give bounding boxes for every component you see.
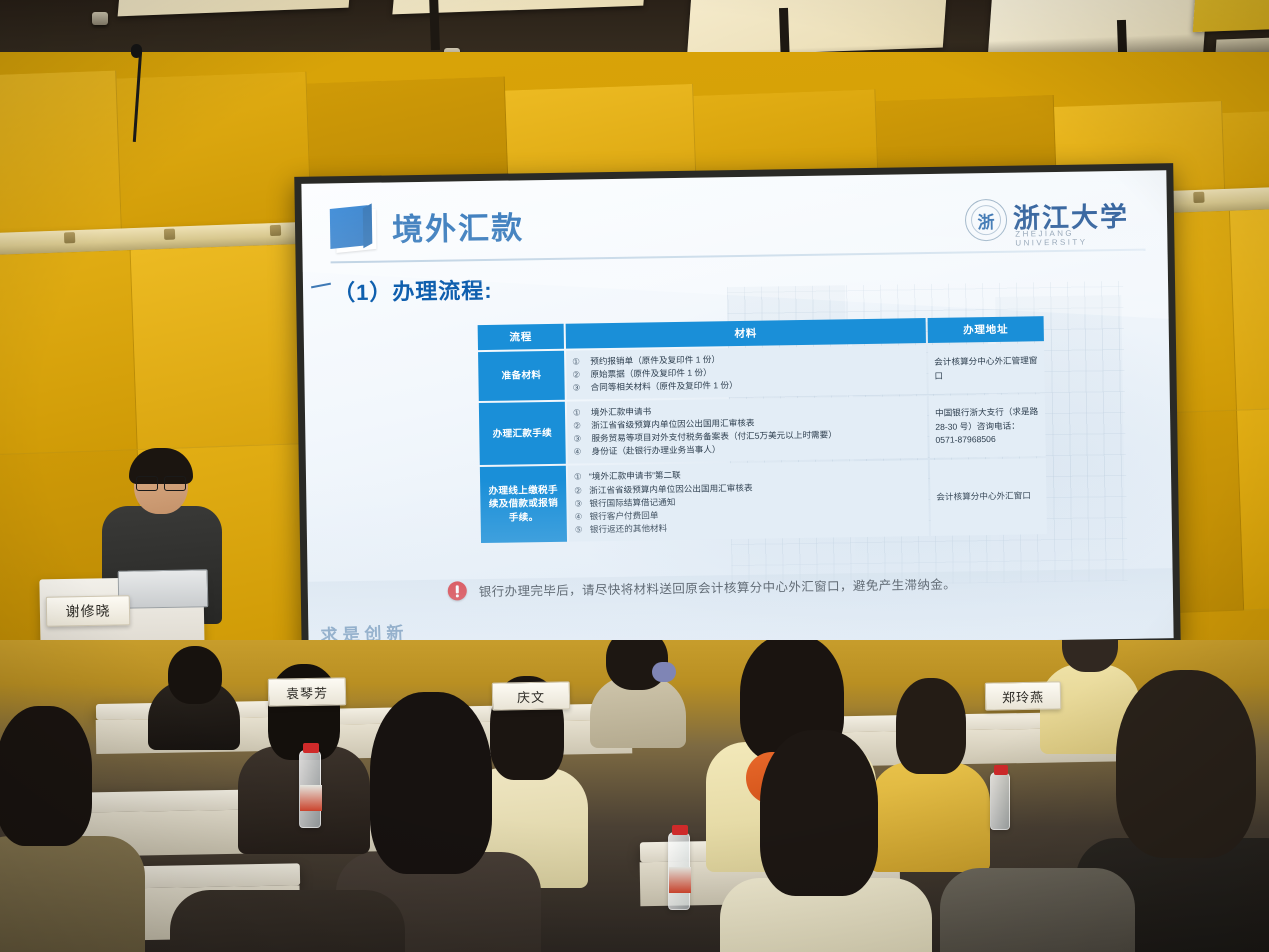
cell-process: 办理线上缴税手续及借款或报销手续。 xyxy=(480,466,567,543)
column-header-process: 流程 xyxy=(478,324,564,350)
zhejiang-university-logo: 浙 浙江大学 ZHEJIANG UNIVERSITY xyxy=(965,195,1142,246)
water-bottle xyxy=(299,750,321,828)
ceiling-divider xyxy=(429,0,440,50)
ceiling-spotlight xyxy=(92,12,108,25)
cell-materials: ① “境外汇款申请书”第二联 ② 浙江省省级预算内单位因公出国用汇审核表 ③ 银… xyxy=(568,460,929,541)
column-header-address: 办理地址 xyxy=(928,316,1044,343)
item-number: ② xyxy=(572,368,584,381)
item-number: ① xyxy=(572,355,584,368)
item-number: ① xyxy=(573,407,585,420)
item-number: ⑤ xyxy=(575,523,584,536)
ceiling-yellow-panel xyxy=(1193,0,1269,32)
audience-area xyxy=(0,640,1269,952)
item-number: ② xyxy=(574,484,583,497)
slide-title: 境外汇款 xyxy=(392,202,525,249)
audience-member xyxy=(0,706,140,952)
cell-address: 会计核算分中心外汇窗口 xyxy=(930,459,1047,536)
laptop xyxy=(118,569,209,609)
red-exclamation-icon xyxy=(448,581,467,600)
item-number: ③ xyxy=(573,433,585,446)
item-number: ④ xyxy=(574,446,586,459)
table-row: 办理线上缴税手续及借款或报销手续。 ① “境外汇款申请书”第二联 ② 浙江省省级… xyxy=(480,459,1047,543)
section-bullet-dash xyxy=(311,283,331,289)
water-bottle xyxy=(990,772,1010,830)
cell-materials: ① 预约报销单（原件及复印件 1 份） ② 原始票据（原件及复印件 1 份） ③… xyxy=(566,345,927,400)
section-label: （1）办理流程: xyxy=(333,273,493,308)
logo-english-name: ZHEJIANG UNIVERSITY xyxy=(1015,228,1141,248)
table-row: 办理汇款手续 ① 境外汇款申请书 ② 浙江省省级预算内单位因公出国用汇审核表 xyxy=(479,394,1046,465)
audience-member xyxy=(590,640,686,724)
audience-member xyxy=(148,646,240,726)
microphone-head xyxy=(131,44,142,58)
nameplate-row-mid: 庆文 xyxy=(492,681,570,710)
item-number: ② xyxy=(573,420,585,433)
cell-address: 中国银行浙大支行（求是路 28-30 号）咨询电话：0571-87968506 xyxy=(929,394,1046,458)
cell-process: 办理汇款手续 xyxy=(479,402,566,466)
presentation-slide: 境外汇款 浙 浙江大学 ZHEJIANG UNIVERSITY （1）办理流程:… xyxy=(301,170,1173,652)
nameplate-row-right: 郑玲燕 xyxy=(985,681,1061,710)
university-seal-icon: 浙 xyxy=(965,199,1008,242)
cell-materials: ① 境外汇款申请书 ② 浙江省省级预算内单位因公出国用汇审核表 ③ 服务贸易等项… xyxy=(567,396,928,464)
audience-member xyxy=(940,828,1130,952)
eyeglasses-icon xyxy=(136,476,186,489)
audience-member xyxy=(720,730,930,952)
item-number: ① xyxy=(574,471,583,484)
process-table: 流程 材料 办理地址 准备材料 ① 预约报销单（原件及复印件 1 份） xyxy=(476,314,1049,545)
projection-screen-bezel: 境外汇款 浙 浙江大学 ZHEJIANG UNIVERSITY （1）办理流程:… xyxy=(294,163,1180,659)
item-number: ③ xyxy=(573,382,585,395)
lecture-hall-photo: 境外汇款 浙 浙江大学 ZHEJIANG UNIVERSITY （1）办理流程:… xyxy=(0,0,1269,952)
nameplate-row-left: 袁琴芳 xyxy=(268,677,346,706)
blue-book-icon xyxy=(330,207,379,254)
column-header-materials: 材料 xyxy=(566,318,926,349)
ceiling-light-panel xyxy=(118,0,353,16)
seal-char: 浙 xyxy=(971,205,1001,235)
item-number: ④ xyxy=(575,510,584,523)
cell-process: 准备材料 xyxy=(478,351,565,402)
audience-member xyxy=(170,870,400,952)
cell-address: 会计核算分中心外汇管理窗口 xyxy=(928,343,1045,394)
water-bottle xyxy=(668,832,690,910)
item-number: ③ xyxy=(574,497,583,510)
nameplate-speaker: 谢修晓 xyxy=(46,595,131,626)
table-row: 准备材料 ① 预约报销单（原件及复印件 1 份） ② 原始票据（原件及复印件 1… xyxy=(478,343,1045,401)
